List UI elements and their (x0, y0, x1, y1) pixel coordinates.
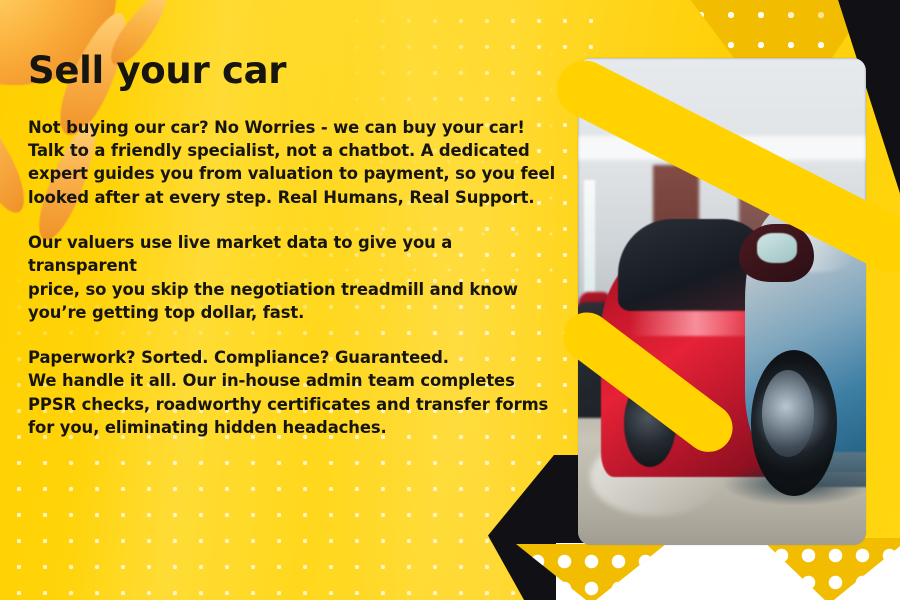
page-title: Sell your car (28, 52, 558, 90)
photo-red-car-highlight (630, 311, 762, 335)
photo-wheel-rim (762, 370, 814, 458)
poster-copy: Sell your car Not buying our car? No Wor… (28, 52, 558, 439)
body-paragraph-1: Not buying our car? No Worries - we can … (28, 116, 558, 209)
body-paragraph-2: Our valuers use live market data to give… (28, 231, 558, 324)
body-paragraph-3: Paperwork? Sorted. Compliance? Guarantee… (28, 346, 558, 439)
sell-your-car-poster: Sell your car Not buying our car? No Wor… (0, 0, 900, 600)
photo-light-stripe (584, 180, 596, 307)
photo-side-mirror-glass (757, 233, 797, 262)
